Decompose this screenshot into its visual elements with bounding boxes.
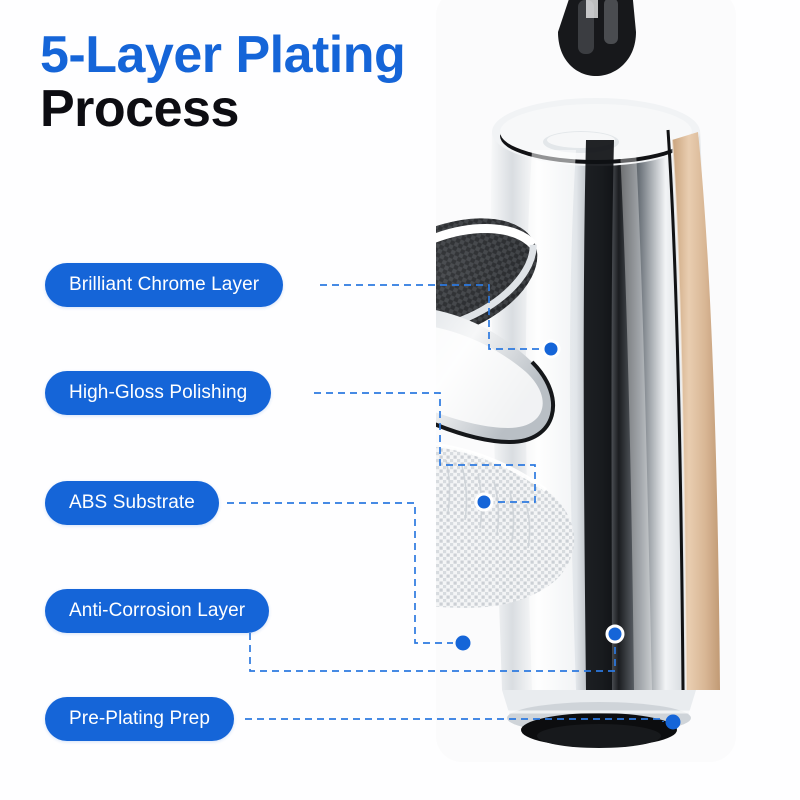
layer-dot-pre-plating-prep[interactable] bbox=[666, 715, 681, 730]
layer-pill-abs-substrate[interactable]: ABS Substrate bbox=[45, 481, 219, 525]
layer-pill-brilliant-chrome-layer[interactable]: Brilliant Chrome Layer bbox=[45, 263, 283, 307]
layer-dot-high-gloss-polishing[interactable] bbox=[475, 493, 494, 512]
layer-dot-brilliant-chrome-layer[interactable] bbox=[542, 340, 561, 359]
product-image-card bbox=[436, 0, 736, 762]
title-line-secondary: Process bbox=[40, 82, 405, 136]
layer-dot-anti-corrosion-layer[interactable] bbox=[606, 625, 625, 644]
layer-pill-anti-corrosion-layer[interactable]: Anti-Corrosion Layer bbox=[45, 589, 269, 633]
layer-dot-abs-substrate[interactable] bbox=[456, 636, 471, 651]
infographic-root: 5-Layer Plating Process bbox=[0, 0, 800, 800]
page-title: 5-Layer Plating Process bbox=[40, 28, 405, 136]
layer-pill-pre-plating-prep[interactable]: Pre-Plating Prep bbox=[45, 697, 234, 741]
title-line-primary: 5-Layer Plating bbox=[40, 28, 405, 82]
layer-pill-high-gloss-polishing[interactable]: High-Gloss Polishing bbox=[45, 371, 271, 415]
chrome-faucet-illustration bbox=[436, 0, 736, 762]
